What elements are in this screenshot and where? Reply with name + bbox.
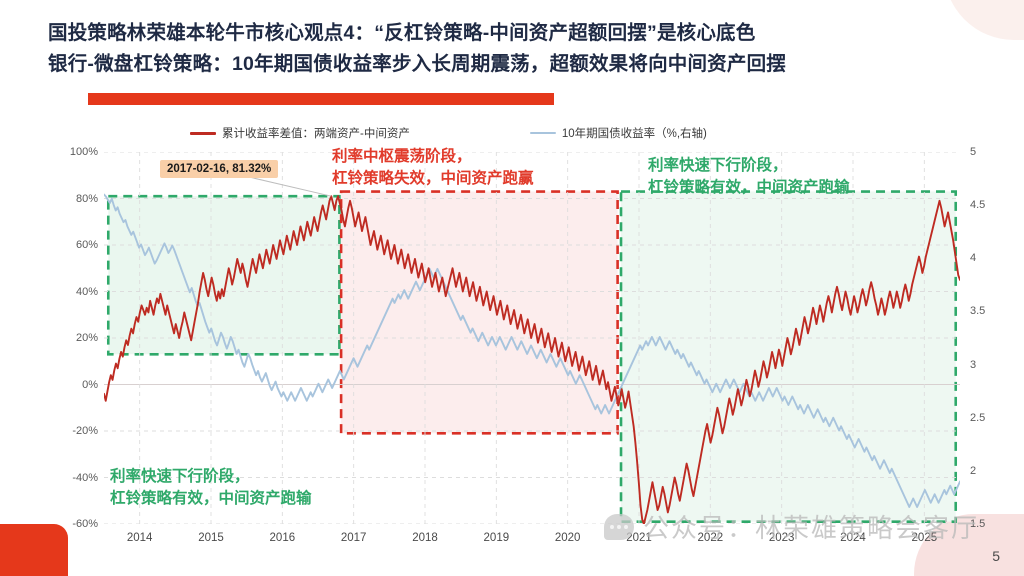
x-axis-tick: 2023 bbox=[769, 532, 795, 544]
x-axis-tick: 2025 bbox=[912, 532, 938, 544]
slide-root: 国投策略林荣雄本轮牛市核心观点4：“反杠铃策略-中间资产超额回摆”是核心底色 银… bbox=[0, 0, 1024, 576]
x-axis-tick: 2020 bbox=[555, 532, 581, 544]
legend-item-spread[interactable]: 累计收益率差值：两端资产-中间资产 bbox=[190, 125, 410, 141]
legend-swatch-blue-icon bbox=[530, 132, 556, 135]
x-axis-tick: 2019 bbox=[484, 532, 510, 544]
phase-box-box-green-left bbox=[108, 196, 339, 354]
y-axis-left-tick: 40% bbox=[40, 286, 98, 298]
data-label-peak: 2017-02-16, 81.32% bbox=[160, 160, 278, 178]
decoration-bottom-left bbox=[0, 524, 68, 576]
page-number: 5 bbox=[992, 548, 1000, 564]
legend-item-yield[interactable]: 10年期国债收益率（%,右轴) bbox=[530, 125, 707, 141]
page-title: 国投策略林荣雄本轮牛市核心观点4：“反杠铃策略-中间资产超额回摆”是核心底色 银… bbox=[48, 18, 1000, 80]
y-axis-right-tick: 5 bbox=[970, 146, 976, 158]
title-line-2: 银行-微盘杠铃策略：10年期国债收益率步入长周期震荡，超额效果将向中间资产回摆 bbox=[48, 49, 1000, 80]
x-axis-tick: 2024 bbox=[840, 532, 866, 544]
y-axis-right-tick: 1.5 bbox=[970, 518, 985, 530]
phase-box-box-red-middle bbox=[341, 192, 617, 434]
phase-box-box-green-right bbox=[621, 192, 956, 522]
annotation-phase-2: 利率中枢震荡阶段， 杠铃策略失效，中间资产跑赢 bbox=[332, 146, 534, 190]
y-axis-right-tick: 4 bbox=[970, 252, 976, 264]
x-axis-tick: 2018 bbox=[412, 532, 438, 544]
y-axis-left-tick: -60% bbox=[40, 518, 98, 530]
x-axis-tick: 2015 bbox=[198, 532, 224, 544]
y-axis-right-tick: 3 bbox=[970, 359, 976, 371]
y-axis-right-tick: 2.5 bbox=[970, 412, 985, 424]
legend-label-yield: 10年期国债收益率（%,右轴) bbox=[562, 125, 707, 141]
y-axis-left-tick: -20% bbox=[40, 425, 98, 437]
title-line-1: 国投策略林荣雄本轮牛市核心观点4：“反杠铃策略-中间资产超额回摆”是核心底色 bbox=[48, 18, 1000, 49]
y-axis-left-tick: 100% bbox=[40, 146, 98, 158]
y-axis-right-tick: 3.5 bbox=[970, 305, 985, 317]
chart-legend: 累计收益率差值：两端资产-中间资产 10年期国债收益率（%,右轴) bbox=[190, 122, 890, 144]
annotation-phase-1: 利率快速下行阶段， 杠铃策略有效，中间资产跑输 bbox=[110, 466, 312, 510]
y-axis-left-tick: 80% bbox=[40, 193, 98, 205]
y-axis-left-tick: -40% bbox=[40, 472, 98, 484]
y-axis-right-tick: 4.5 bbox=[970, 199, 985, 211]
legend-label-spread: 累计收益率差值：两端资产-中间资产 bbox=[222, 125, 410, 141]
x-axis-tick: 2017 bbox=[341, 532, 367, 544]
x-axis-tick: 2021 bbox=[626, 532, 652, 544]
legend-swatch-red-icon bbox=[190, 132, 216, 135]
x-axis-tick: 2022 bbox=[698, 532, 724, 544]
y-axis-left-tick: 20% bbox=[40, 332, 98, 344]
title-underline-bar bbox=[88, 93, 554, 105]
annotation-phase-3: 利率快速下行阶段， 杠铃策略有效，中间资产跑输 bbox=[648, 155, 850, 199]
y-axis-right-tick: 2 bbox=[970, 465, 976, 477]
y-axis-left-tick: 0% bbox=[40, 379, 98, 391]
x-axis-tick: 2016 bbox=[270, 532, 296, 544]
y-axis-left-tick: 60% bbox=[40, 239, 98, 251]
x-axis-tick: 2014 bbox=[127, 532, 153, 544]
